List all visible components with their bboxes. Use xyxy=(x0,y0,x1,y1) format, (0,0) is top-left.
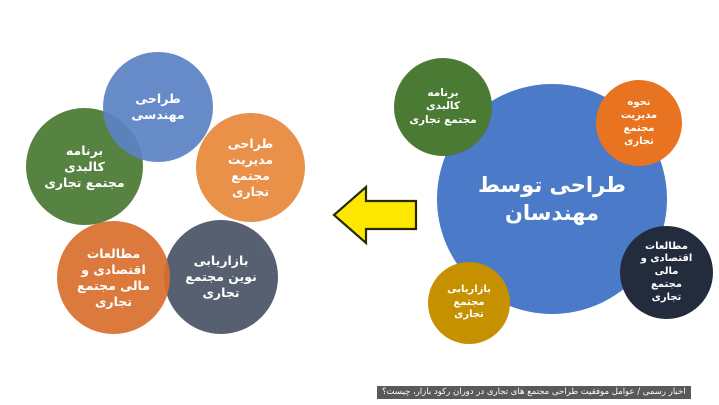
left-circle-management-design: طراحی مدیریت مجتمع تجاری xyxy=(196,113,305,222)
right-circle-physical-program: برنامه کالبدی مجتمع تجاری xyxy=(394,58,492,156)
right-circle-economic-financial-studies: مطالعات اقتصادی و مالی مجتمع تجاری xyxy=(620,226,713,319)
right-circle-management-method: نحوه مدیریت مجتمع تجاری xyxy=(596,80,682,166)
left-circle-economic-financial-studies-label: مطالعات اقتصادی و مالی مجتمع تجاری xyxy=(61,246,166,310)
right-circle-physical-program-label: برنامه کالبدی مجتمع تجاری xyxy=(398,87,488,127)
right-circle-designed-by-engineers-label: طراحی توسط مهندسان xyxy=(441,171,663,228)
left-circle-management-design-label: طراحی مدیریت مجتمع تجاری xyxy=(200,136,301,200)
left-circle-modern-marketing-label: بازاریابی نوین مجتمع تجاری xyxy=(168,253,274,301)
left-arrow-icon xyxy=(332,183,418,247)
left-circle-design-engineering: طراحی مهندسی xyxy=(103,52,213,162)
right-circle-marketing-label: بازاریابی مجتمع تجاری xyxy=(432,284,506,322)
left-circle-economic-financial-studies: مطالعات اقتصادی و مالی مجتمع تجاری xyxy=(57,221,170,334)
diagram-canvas: طراحی مهندسی برنامه کالبدی مجتمع تجاری ط… xyxy=(0,0,719,405)
caption-text: اخبار رسمی / عوامل موفقیت طراحی مجتمع ها… xyxy=(382,387,686,397)
left-circle-design-engineering-label: طراحی مهندسی xyxy=(107,91,209,123)
caption-bar: اخبار رسمی / عوامل موفقیت طراحی مجتمع ها… xyxy=(377,386,691,399)
right-circle-economic-financial-studies-label: مطالعات اقتصادی و مالی مجتمع تجاری xyxy=(624,241,709,305)
left-circle-modern-marketing: بازاریابی نوین مجتمع تجاری xyxy=(164,220,278,334)
right-circle-management-method-label: نحوه مدیریت مجتمع تجاری xyxy=(600,97,678,148)
right-circle-marketing: بازاریابی مجتمع تجاری xyxy=(428,262,510,344)
